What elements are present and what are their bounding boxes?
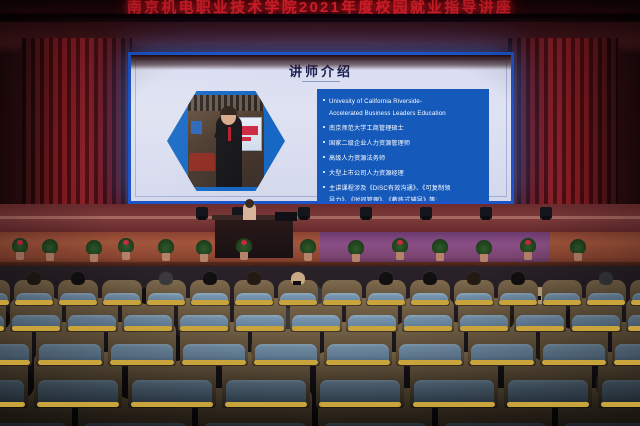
- stage-plant: [432, 239, 448, 261]
- audience-member: [423, 272, 437, 285]
- audience-member: [71, 272, 85, 285]
- audience-seating: [0, 266, 640, 426]
- bullet-line: Univesity of California Riverside-: [329, 96, 482, 108]
- bullet-text: Univesity of California Riverside-Accele…: [329, 96, 482, 119]
- stage-plant: [300, 239, 316, 261]
- slide-bullet-item: 主讲课程涉及《DISC有效沟通》、《可复制领导力》、《时间管理》、《教练式辅导》…: [323, 183, 482, 201]
- stage-plant: [158, 239, 174, 261]
- bullet-line: 导力》、《时间管理》、《教练式辅导》等;: [329, 195, 482, 201]
- stage-plant: [570, 239, 586, 261]
- projection-screen: 讲师介绍 Univesity of California Riverside-A…: [128, 52, 514, 204]
- auditorium-photo: 南京机电职业技术学院2021年度校园就业指导讲座 讲师介绍: [0, 0, 640, 426]
- audience-member: [379, 272, 393, 285]
- bullet-line: Accelerated Business Leaders Education: [329, 108, 482, 120]
- slide-bullet-item: 国家二级企业人力资源管理师: [323, 138, 482, 150]
- bullet-dot-icon: [323, 126, 325, 128]
- bullet-dot-icon: [323, 186, 325, 188]
- bullet-text: 高级人力资源法务师: [329, 153, 482, 165]
- slide-title: 讲师介绍: [131, 61, 511, 80]
- stage-plant: [520, 238, 536, 260]
- audience-member: [159, 272, 173, 285]
- audience-member: [247, 272, 261, 285]
- presenter-head: [245, 199, 254, 208]
- stage-plant: [42, 239, 58, 261]
- bullet-line: 大型上市公司人力资源经理: [329, 168, 482, 180]
- photo-logo-banner: [191, 121, 202, 134]
- audience-member: [511, 272, 525, 285]
- audience-member: [467, 272, 481, 285]
- slide-title-rule: [302, 81, 340, 82]
- stage-plant: [392, 238, 408, 260]
- bullet-line: 国家二级企业人力资源管理师: [329, 138, 482, 150]
- auditorium-seat: [630, 280, 640, 306]
- bullet-line: 主讲课程涉及《DISC有效沟通》、《可复制领: [329, 183, 482, 195]
- bullet-text: 国家二级企业人力资源管理师: [329, 138, 482, 150]
- stage-light-icon: [360, 207, 372, 219]
- bullet-dot-icon: [323, 171, 325, 173]
- stage-light-icon: [480, 207, 492, 219]
- audience-member: [27, 272, 41, 285]
- bullet-text: 大型上市公司人力资源经理: [329, 168, 482, 180]
- bullet-dot-icon: [323, 156, 325, 158]
- speaker-photo: [188, 95, 264, 187]
- auditorium-seat: [0, 280, 10, 306]
- bullet-line: 高级人力资源法务师: [329, 153, 482, 165]
- stage-plant: [236, 238, 252, 260]
- audience-member: [291, 272, 305, 285]
- slide-bullet-item: 南京师范大学工商管理硕士: [323, 123, 482, 135]
- stage-light-icon: [298, 207, 310, 219]
- stage-plant: [118, 238, 134, 260]
- slide-bullet-item: 大型上市公司人力资源经理: [323, 168, 482, 180]
- podium-monitor: [275, 212, 297, 221]
- bullet-dot-icon: [323, 99, 325, 101]
- stage-plant: [476, 240, 492, 262]
- stage-plant: [12, 238, 28, 260]
- photo-speaker-lanyard: [228, 127, 231, 141]
- bullet-dot-icon: [323, 141, 325, 143]
- bullet-line: 南京师范大学工商管理硕士: [329, 123, 482, 135]
- audience-member: [599, 272, 613, 285]
- stage-plant: [86, 240, 102, 262]
- stage-light-icon: [420, 207, 432, 219]
- slide-bullet-panel: Univesity of California Riverside-Accele…: [317, 89, 489, 201]
- stage-plant: [196, 240, 212, 262]
- presentation-slide: 讲师介绍 Univesity of California Riverside-A…: [131, 55, 511, 201]
- auditorium-seat: [102, 280, 142, 306]
- slide-bullet-item: Univesity of California Riverside-Accele…: [323, 96, 482, 119]
- photo-red-sofa: [189, 153, 215, 171]
- slide-bullet-item: 高级人力资源法务师: [323, 153, 482, 165]
- stage-light-icon: [540, 207, 552, 219]
- podium: [215, 218, 293, 258]
- stage-plant: [348, 240, 364, 262]
- stage-light-icon: [196, 207, 208, 219]
- bullet-text: 主讲课程涉及《DISC有效沟通》、《可复制领导力》、《时间管理》、《教练式辅导》…: [329, 183, 482, 201]
- audience-row: [0, 266, 640, 328]
- auditorium-seat: [542, 280, 582, 306]
- audience-member: [203, 272, 217, 285]
- auditorium-seat: [322, 280, 362, 306]
- bullet-text: 南京师范大学工商管理硕士: [329, 123, 482, 135]
